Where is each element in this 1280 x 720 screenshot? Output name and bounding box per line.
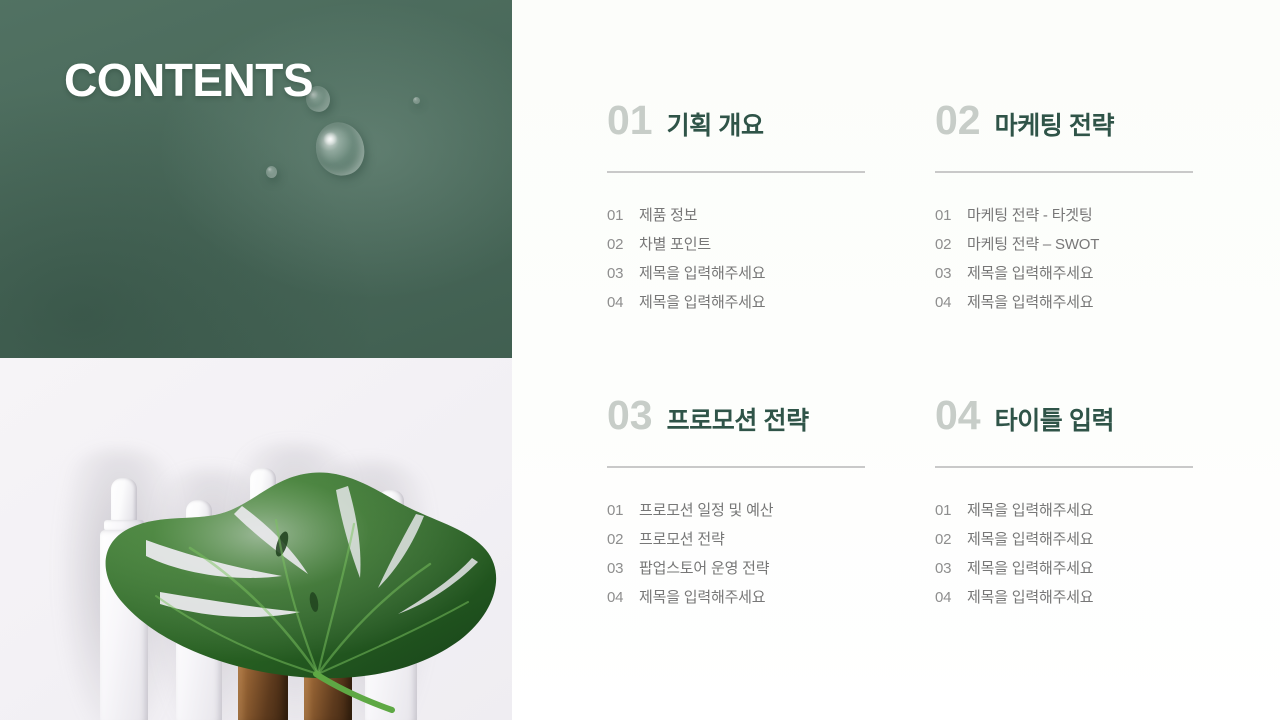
list-item-label: 프로모션 전략 xyxy=(639,525,725,554)
section-divider xyxy=(607,466,865,468)
list-item-number: 04 xyxy=(935,583,956,612)
list-item-label: 프로모션 일정 및 예산 xyxy=(639,496,773,525)
list-item-number: 01 xyxy=(935,496,956,525)
list-item-label: 제목을 입력해주세요 xyxy=(967,525,1093,554)
section-divider xyxy=(607,171,865,173)
list-item-label: 제목을 입력해주세요 xyxy=(639,259,765,288)
list-item-number: 02 xyxy=(935,230,956,259)
section-title: 마케팅 전략 xyxy=(995,111,1115,141)
left-column: CONTENTS xyxy=(0,0,512,720)
list-item-label: 팝업스토어 운영 전략 xyxy=(639,554,769,583)
list-item-label: 제목을 입력해주세요 xyxy=(639,583,765,612)
list-item[interactable]: 04 제목을 입력해주세요 xyxy=(935,288,1207,317)
list-item[interactable]: 01 마케팅 전략 - 타겟팅 xyxy=(935,201,1207,230)
section-item-list: 01 제목을 입력해주세요 02 제목을 입력해주세요 03 제목을 입력해주세… xyxy=(935,496,1207,612)
green-title-panel: CONTENTS xyxy=(0,0,512,358)
section-number: 01 xyxy=(607,100,653,141)
list-item-label: 제목을 입력해주세요 xyxy=(967,496,1093,525)
section-divider xyxy=(935,466,1193,468)
section-item-list: 01 제품 정보 02 차별 포인트 03 제목을 입력해주세요 04 제목을 … xyxy=(607,201,935,317)
list-item-number: 04 xyxy=(607,288,628,317)
section-header: 02 마케팅 전략 xyxy=(935,100,1207,152)
list-item[interactable]: 03 제목을 입력해주세요 xyxy=(607,259,935,288)
section-number: 03 xyxy=(607,395,653,436)
section-block-04[interactable]: 04 타이틀 입력 01 제목을 입력해주세요 02 제목을 입력해주세요 03 xyxy=(935,395,1207,612)
section-item-list: 01 마케팅 전략 - 타겟팅 02 마케팅 전략 – SWOT 03 제목을 … xyxy=(935,201,1207,317)
list-item-number: 03 xyxy=(935,259,956,288)
list-item-number: 03 xyxy=(607,259,628,288)
section-item-list: 01 프로모션 일정 및 예산 02 프로모션 전략 03 팝업스토어 운영 전… xyxy=(607,496,935,612)
list-item-number: 01 xyxy=(935,201,956,230)
water-droplet-large-icon xyxy=(309,116,371,182)
list-item-label: 제목을 입력해주세요 xyxy=(967,554,1093,583)
list-item[interactable]: 02 제목을 입력해주세요 xyxy=(935,525,1207,554)
list-item-number: 01 xyxy=(607,201,628,230)
right-column: 01 기획 개요 01 제품 정보 02 차별 포인트 03 제목을 입 xyxy=(512,0,1280,720)
monstera-leaf xyxy=(86,416,512,716)
section-header: 03 프로모션 전략 xyxy=(607,395,935,447)
list-item-number: 04 xyxy=(607,583,628,612)
list-item-number: 02 xyxy=(607,230,628,259)
list-item[interactable]: 04 제목을 입력해주세요 xyxy=(607,583,935,612)
list-item[interactable]: 04 제목을 입력해주세요 xyxy=(935,583,1207,612)
list-item[interactable]: 04 제목을 입력해주세요 xyxy=(607,288,935,317)
list-item[interactable]: 02 프로모션 전략 xyxy=(607,525,935,554)
section-divider xyxy=(935,171,1193,173)
section-number: 04 xyxy=(935,395,981,436)
section-block-02[interactable]: 02 마케팅 전략 01 마케팅 전략 - 타겟팅 02 마케팅 전략 – SW… xyxy=(935,100,1207,395)
list-item-label: 차별 포인트 xyxy=(639,230,711,259)
list-item[interactable]: 03 제목을 입력해주세요 xyxy=(935,554,1207,583)
list-item-number: 02 xyxy=(607,525,628,554)
list-item-number: 04 xyxy=(935,288,956,317)
product-photo xyxy=(0,358,512,720)
list-item[interactable]: 03 팝업스토어 운영 전략 xyxy=(607,554,935,583)
list-item[interactable]: 03 제목을 입력해주세요 xyxy=(935,259,1207,288)
list-item-number: 03 xyxy=(607,554,628,583)
water-droplet-tiny-icon xyxy=(413,97,420,104)
list-item-number: 02 xyxy=(935,525,956,554)
section-header: 04 타이틀 입력 xyxy=(935,395,1207,447)
list-item-number: 03 xyxy=(935,554,956,583)
section-block-01[interactable]: 01 기획 개요 01 제품 정보 02 차별 포인트 03 제목을 입 xyxy=(607,100,935,395)
list-item[interactable]: 01 제목을 입력해주세요 xyxy=(935,496,1207,525)
list-item[interactable]: 02 차별 포인트 xyxy=(607,230,935,259)
section-title: 기획 개요 xyxy=(667,111,764,141)
list-item-label: 제목을 입력해주세요 xyxy=(967,259,1093,288)
list-item-label: 제목을 입력해주세요 xyxy=(967,583,1093,612)
slide-contents: CONTENTS xyxy=(0,0,1280,720)
section-title: 타이틀 입력 xyxy=(995,406,1115,436)
list-item-number: 01 xyxy=(607,496,628,525)
list-item[interactable]: 02 마케팅 전략 – SWOT xyxy=(935,230,1207,259)
list-item[interactable]: 01 프로모션 일정 및 예산 xyxy=(607,496,935,525)
section-header: 01 기획 개요 xyxy=(607,100,935,152)
list-item-label: 제품 정보 xyxy=(639,201,697,230)
section-number: 02 xyxy=(935,100,981,141)
list-item-label: 마케팅 전략 – SWOT xyxy=(967,230,1099,259)
page-title: CONTENTS xyxy=(64,52,313,108)
contents-grid: 01 기획 개요 01 제품 정보 02 차별 포인트 03 제목을 입 xyxy=(607,100,1207,612)
section-block-03[interactable]: 03 프로모션 전략 01 프로모션 일정 및 예산 02 프로모션 전략 03 xyxy=(607,395,935,612)
list-item-label: 제목을 입력해주세요 xyxy=(639,288,765,317)
water-droplet-small-icon xyxy=(266,166,277,178)
list-item[interactable]: 01 제품 정보 xyxy=(607,201,935,230)
list-item-label: 마케팅 전략 - 타겟팅 xyxy=(967,201,1093,230)
list-item-label: 제목을 입력해주세요 xyxy=(967,288,1093,317)
section-title: 프로모션 전략 xyxy=(667,406,809,436)
